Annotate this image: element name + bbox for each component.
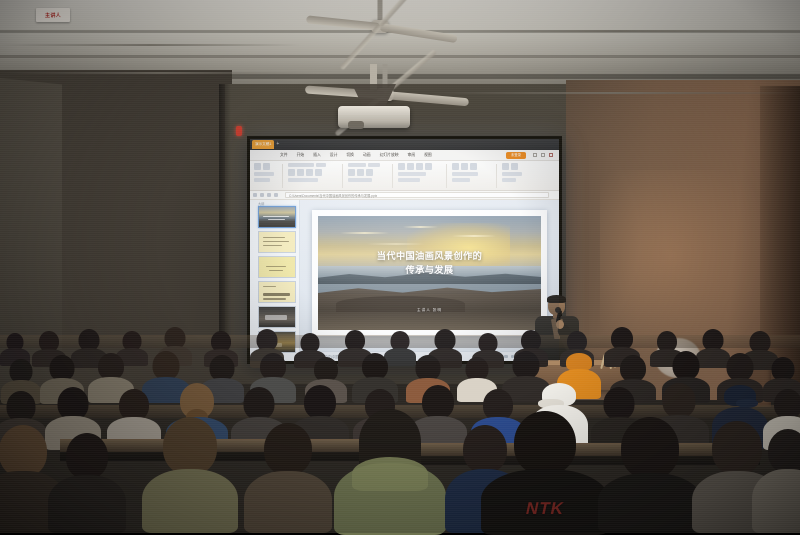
menu-item-slideshow[interactable]: 幻灯片放映	[380, 153, 399, 158]
document-tab-strip[interactable]: 演示文稿1 +	[250, 139, 279, 150]
menu-item-design[interactable]: 设计	[330, 153, 338, 158]
quick-access-toolbar[interactable]: C:\Users\Documents\当代中国油画风景创作的传承与发展.pptx	[250, 191, 559, 200]
ceiling-wire	[430, 92, 800, 94]
save-icon[interactable]	[253, 193, 257, 197]
undo-icon[interactable]	[260, 193, 264, 197]
minimize-icon[interactable]	[533, 153, 537, 157]
ceiling-wire	[0, 72, 320, 74]
menu-item-view[interactable]: 视图	[424, 153, 432, 158]
current-slide[interactable]: 当代中国油画风景创作的 传承与发展 主讲人 张明	[312, 210, 547, 336]
file-path-field[interactable]: C:\Users\Documents\当代中国油画风景创作的传承与发展.pptx	[285, 192, 549, 198]
lecture-hall-scene: 演示文稿1 + 文件 开始 插入 设计 切换 动画 幻灯片放映 审阅 视图 未登…	[0, 0, 800, 533]
audience-member	[56, 433, 118, 533]
menu-item-transition[interactable]: 切换	[346, 153, 354, 158]
audience: NTK	[0, 333, 800, 533]
ceiling-wire	[0, 44, 300, 46]
audience-member	[252, 423, 324, 533]
account-button[interactable]: 未登录	[506, 152, 526, 159]
podium-nameplate: 主讲人	[36, 8, 70, 22]
audience-member	[760, 429, 800, 533]
app-titlebar: 演示文稿1 +	[250, 139, 559, 150]
menu-item-file[interactable]: 文件	[280, 153, 288, 158]
slide-artwork: 当代中国油画风景创作的 传承与发展 主讲人 张明	[318, 216, 541, 330]
menu-item-animation[interactable]: 动画	[363, 153, 371, 158]
emergency-light-icon	[236, 126, 242, 136]
print-icon[interactable]	[274, 193, 278, 197]
ribbon-menu-bar[interactable]: 文件 开始 插入 设计 切换 动画 幻灯片放映 审阅 视图 未登录	[250, 150, 559, 161]
projection-screen: 演示文稿1 + 文件 开始 插入 设计 切换 动画 幻灯片放映 审阅 视图 未登…	[247, 136, 562, 364]
projector-icon	[338, 106, 410, 128]
menu-item-home[interactable]: 开始	[297, 153, 305, 158]
ribbon-toolbar[interactable]	[250, 161, 559, 191]
maximize-icon[interactable]	[541, 153, 545, 157]
slide-thumbnail-3[interactable]	[258, 256, 296, 278]
audience-member	[150, 417, 230, 533]
redo-icon[interactable]	[267, 193, 271, 197]
slide-thumbnail-5[interactable]	[258, 306, 296, 328]
new-tab-button[interactable]: +	[276, 140, 279, 149]
menu-item-review[interactable]: 审阅	[408, 153, 416, 158]
slide-title-line-1: 当代中国油画风景创作的	[318, 250, 541, 263]
slide-thumbnail-2[interactable]	[258, 231, 296, 253]
file-path-text: C:\Users\Documents\当代中国油画风景创作的传承与发展.pptx	[289, 193, 377, 198]
jacket-graphic-text: NTK	[524, 499, 566, 519]
slide-title-line-2: 传承与发展	[318, 264, 541, 277]
slide-subtitle: 主讲人 张明	[318, 308, 541, 313]
document-tab[interactable]: 演示文稿1	[252, 140, 274, 149]
ceiling-wire	[440, 30, 800, 32]
black-jacket-student: NTK	[490, 411, 600, 533]
slide-thumbnail-1[interactable]	[258, 206, 296, 228]
projector-lens-icon	[348, 121, 364, 129]
menu-item-insert[interactable]: 插入	[313, 153, 321, 158]
slide-title: 当代中国油画风景创作的 传承与发展	[318, 250, 541, 277]
slide-thumbnail-4[interactable]	[258, 281, 296, 303]
audience-member	[606, 417, 694, 533]
close-icon[interactable]	[549, 153, 553, 157]
olive-hoodie-student	[344, 409, 436, 533]
nameplate-text: 主讲人	[45, 12, 61, 19]
